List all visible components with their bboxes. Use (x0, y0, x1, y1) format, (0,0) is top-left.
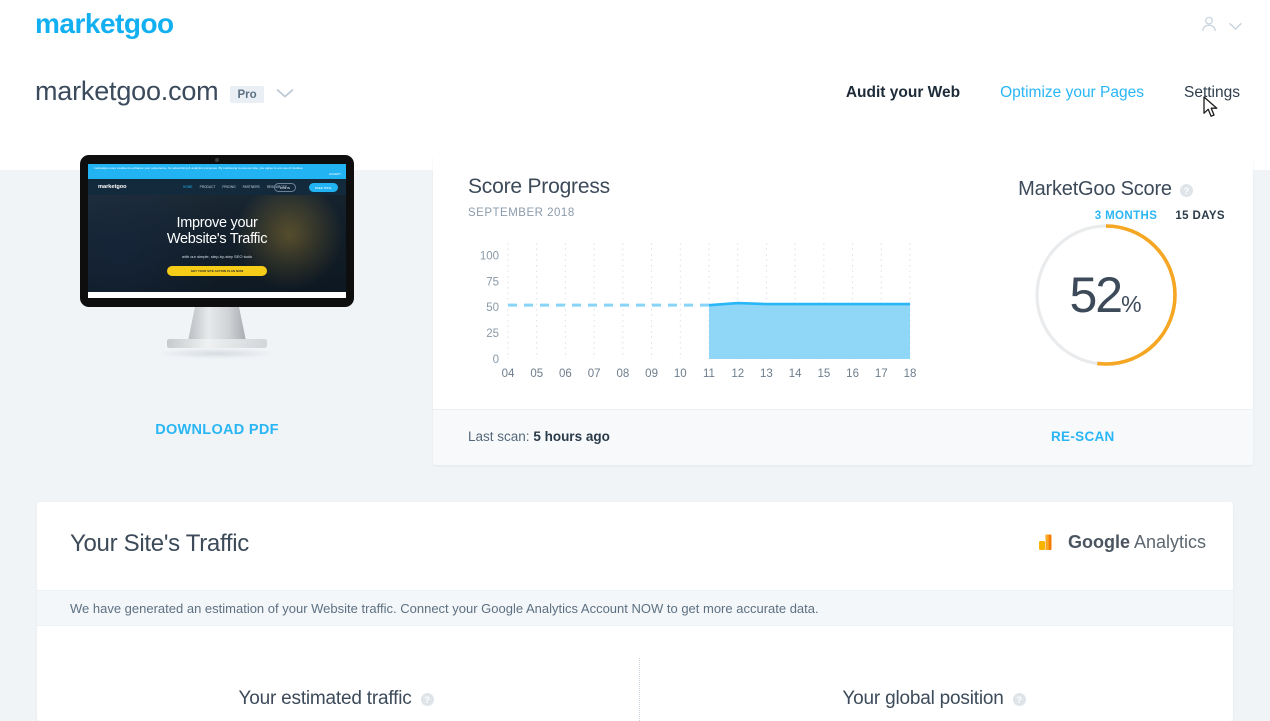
svg-text:18: 18 (904, 368, 917, 380)
screenshot-cookie-text: marketgoo uses cookies to enhance your e… (94, 166, 318, 171)
svg-text:25: 25 (486, 328, 499, 340)
screenshot-logo: marketgoo (98, 184, 127, 190)
score-progress-month: SEPTEMBER 2018 (468, 207, 575, 219)
google-analytics-label: Google Analytics (1068, 532, 1206, 553)
svg-text:10: 10 (674, 368, 687, 380)
svg-text:16: 16 (846, 368, 859, 380)
svg-text:08: 08 (616, 368, 629, 380)
screenshot-cookie-bar: marketgoo uses cookies to enhance your e… (88, 164, 346, 179)
screenshot-hero: Improve your Website's Traffic with our … (88, 195, 346, 292)
svg-text:17: 17 (875, 368, 888, 380)
svg-text:06: 06 (559, 368, 572, 380)
global-position-heading: Your global position ? (842, 676, 1025, 721)
svg-text:0: 0 (493, 354, 499, 366)
google-analytics-icon (1039, 529, 1059, 555)
monitor-camera-dot (215, 158, 219, 162)
svg-text:04: 04 (502, 368, 515, 380)
svg-text:75: 75 (486, 276, 499, 288)
global-position-label: Your global position (842, 688, 1003, 710)
screenshot-nav-links: HOME PRODUCT PRICING PARTNERS RESOURCES (183, 185, 287, 189)
last-scan-label: Last scan: (468, 429, 530, 444)
last-scan-value: 5 hours ago (533, 429, 610, 444)
traffic-columns: Your estimated traffic ? Your global pos… (37, 626, 1233, 721)
screenshot-nav-link: HOME (183, 185, 193, 189)
traffic-column-estimated: Your estimated traffic ? (37, 626, 635, 721)
site-preview-column: marketgoo uses cookies to enhance your e… (37, 150, 397, 315)
monitor-stand-base (167, 339, 267, 348)
nav-item-audit-your-web[interactable]: Audit your Web (846, 84, 960, 102)
traffic-notice: We have generated an estimation of your … (37, 590, 1233, 626)
marketgoo-score-label: MarketGoo Score (1018, 178, 1172, 201)
ga-word-analytics: Analytics (1134, 532, 1206, 552)
screenshot-footer (88, 292, 346, 298)
nav-item-settings[interactable]: Settings (1184, 84, 1240, 102)
screenshot-hero-text: Improve your Website's Traffic with our … (88, 215, 346, 276)
site-selector[interactable]: marketgoo.com Pro (35, 76, 294, 107)
monitor-stand-neck (188, 307, 246, 341)
account-menu[interactable] (1199, 14, 1242, 39)
score-donut: 52 % (1032, 221, 1180, 369)
top-bar: marketgoo (0, 0, 1270, 62)
score-progress-title: Score Progress (468, 175, 610, 199)
score-donut-label: 52 % (1032, 221, 1180, 369)
marketgoo-logo[interactable]: marketgoo (35, 8, 174, 40)
chevron-down-icon[interactable] (276, 86, 294, 104)
estimated-traffic-label: Your estimated traffic (238, 688, 411, 710)
dashboard-page: marketgoo marketgoo.com Pro (0, 0, 1270, 721)
ga-word-google: Google (1068, 532, 1130, 552)
estimated-traffic-heading: Your estimated traffic ? (238, 676, 433, 721)
svg-text:14: 14 (789, 368, 802, 380)
google-analytics-logo: Google Analytics (1039, 529, 1206, 555)
score-progress-card: Score Progress SEPTEMBER 2018 3 MONTHS 1… (433, 155, 1253, 465)
score-progress-chart: 0255075100040506070809101112131415161718 (468, 235, 918, 385)
svg-text:09: 09 (645, 368, 658, 380)
help-circle-icon[interactable]: ? (1013, 693, 1026, 706)
monitor-bezel: marketgoo uses cookies to enhance your e… (80, 155, 354, 307)
traffic-column-global-position: Your global position ? (635, 626, 1233, 721)
screenshot-headline-2: Website's Traffic (88, 231, 346, 247)
nav-item-optimize-your-pages[interactable]: Optimize your Pages (1000, 84, 1144, 102)
score-value: 52 (1069, 266, 1121, 324)
help-circle-icon[interactable]: ? (1180, 184, 1193, 197)
screenshot-nav-link: PARTNERS (243, 185, 260, 189)
screenshot-nav-link: PRODUCT (200, 185, 216, 189)
site-traffic-title: Your Site's Traffic (70, 530, 249, 558)
site-nav-row: marketgoo.com Pro Audit your Web Optimiz… (0, 62, 1270, 132)
svg-text:07: 07 (588, 368, 601, 380)
svg-text:12: 12 (731, 368, 744, 380)
rescan-button[interactable]: RE-SCAN (1051, 429, 1115, 444)
screenshot-login-button: LOG IN (274, 183, 296, 192)
score-unit: % (1121, 291, 1141, 318)
svg-text:50: 50 (486, 302, 499, 314)
screenshot-nav-link: PRICING (222, 185, 235, 189)
svg-text:15: 15 (817, 368, 830, 380)
svg-text:13: 13 (760, 368, 773, 380)
plan-badge: Pro (230, 86, 263, 103)
svg-text:05: 05 (530, 368, 543, 380)
person-icon (1199, 14, 1219, 39)
site-domain: marketgoo.com (35, 76, 218, 107)
screenshot-cta-button: GET YOUR SITE ACTION PLAN NOW (167, 266, 267, 276)
help-circle-icon[interactable]: ? (421, 693, 434, 706)
site-screenshot: marketgoo uses cookies to enhance your e… (88, 164, 346, 298)
monitor-shadow (155, 348, 279, 359)
main-navigation: Audit your Web Optimize your Pages Setti… (846, 84, 1240, 102)
score-chart-svg: 0255075100040506070809101112131415161718 (468, 235, 918, 385)
site-traffic-card: Your Site's Traffic Google Analytics We … (37, 502, 1233, 721)
screenshot-cookie-accept: ACCEPT (329, 172, 341, 176)
screenshot-trial-button: FREE TRIAL (309, 183, 338, 192)
chevron-down-icon (1229, 18, 1242, 36)
traffic-notice-text: We have generated an estimation of your … (70, 601, 819, 616)
site-screenshot-monitor: marketgoo uses cookies to enhance your e… (80, 155, 354, 315)
screenshot-headline-1: Improve your (88, 215, 346, 231)
last-scan-info: Last scan: 5 hours ago (468, 429, 610, 444)
score-card-footer: Last scan: 5 hours ago RE-SCAN (433, 409, 1253, 465)
svg-text:11: 11 (703, 368, 715, 380)
screenshot-navbar: marketgoo HOME PRODUCT PRICING PARTNERS … (88, 179, 346, 195)
screenshot-subheadline: with our simple, step-by-step SEO tools (88, 254, 346, 259)
marketgoo-score-panel: MarketGoo Score ? 52 % (958, 167, 1253, 407)
marketgoo-score-heading: MarketGoo Score ? (958, 167, 1253, 201)
download-pdf-button[interactable]: DOWNLOAD PDF (37, 422, 397, 438)
traffic-column-divider (639, 658, 640, 721)
svg-text:100: 100 (480, 250, 499, 262)
